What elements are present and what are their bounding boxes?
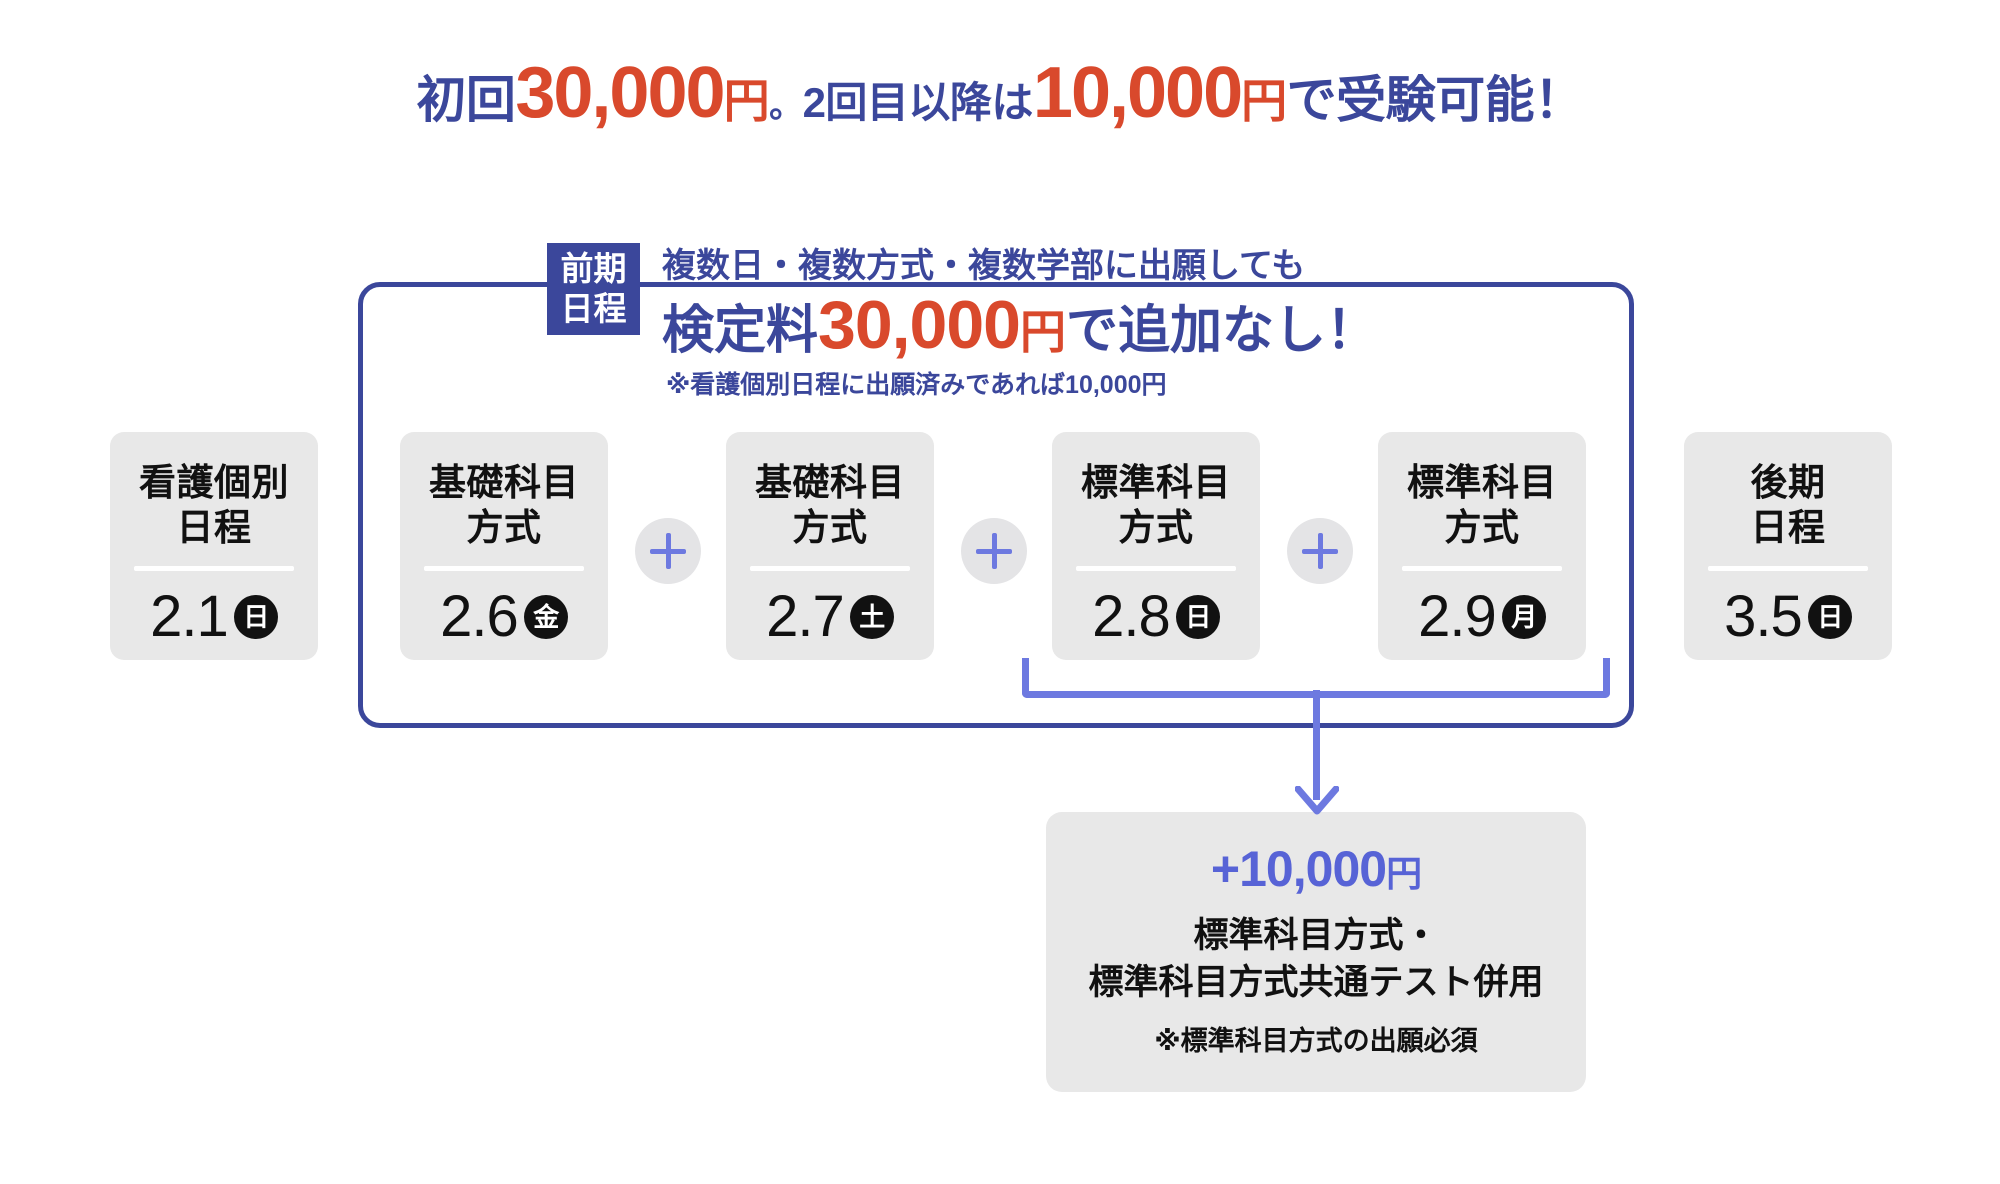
- plus-sign: +: [1211, 841, 1239, 897]
- notice-subtitle: 複数日・複数方式・複数学部に出願しても: [662, 238, 1378, 287]
- card-title-line1: 標準科目: [1081, 460, 1231, 505]
- notice-fee-amount: 30,000: [818, 287, 1020, 363]
- card-date: 2.7 土: [766, 583, 894, 650]
- day-of-week-badge: 金: [524, 595, 568, 639]
- card-title: 標準科目 方式: [1407, 460, 1557, 550]
- additional-fee-line2: 標準科目方式共通テスト併用: [1088, 959, 1543, 1006]
- card-divider: [1076, 566, 1236, 571]
- card-title-line1: 後期: [1751, 460, 1826, 505]
- card-title-line2: 方式: [1081, 505, 1231, 550]
- card-standard-subject-0208: 標準科目 方式 2.8 日: [1052, 432, 1260, 660]
- day-of-week-badge: 日: [1176, 595, 1220, 639]
- card-title-line2: 方式: [429, 505, 579, 550]
- card-title-line2: 日程: [139, 505, 289, 550]
- card-title: 標準科目 方式: [1081, 460, 1231, 550]
- card-nursing-individual: 看護個別 日程 2.1 日: [110, 432, 318, 660]
- notice-footnote: ※看護個別日程に出願済みであれば10,000円: [662, 365, 1378, 401]
- schedule-cards-row: 看護個別 日程 2.1 日 基礎科目 方式 2.6 金 基礎科目: [0, 432, 2000, 662]
- card-date: 2.9 月: [1418, 583, 1546, 650]
- card-date-number: 3.5: [1724, 583, 1802, 650]
- notice-main-line: 検定料30,000円で追加なし！: [662, 291, 1378, 359]
- term-badge-early: 前期 日程: [547, 243, 640, 335]
- card-title-line1: 標準科目: [1407, 460, 1557, 505]
- headline-yen-first: 円: [724, 75, 770, 127]
- notice-fee-yen: 円: [1020, 306, 1066, 358]
- notice-fee-label: 検定料: [662, 302, 818, 360]
- additional-fee-price: +10,000円: [1211, 844, 1421, 894]
- connector-arrow-stem: [1313, 690, 1320, 800]
- card-date-number: 2.7: [766, 583, 844, 650]
- card-title-line1: 基礎科目: [429, 460, 579, 505]
- card-title-line2: 日程: [1751, 505, 1826, 550]
- additional-fee-box: +10,000円 標準科目方式・ 標準科目方式共通テスト併用 ※標準科目方式の出…: [1046, 812, 1586, 1092]
- card-basic-subject-0207: 基礎科目 方式 2.7 土: [726, 432, 934, 660]
- card-date: 2.1 日: [150, 583, 278, 650]
- card-date-number: 2.8: [1092, 583, 1170, 650]
- fee-notice: 複数日・複数方式・複数学部に出願しても 検定料30,000円で追加なし！ ※看護…: [662, 238, 1378, 401]
- page-headline: 初回30,000円。2回目以降は10,000円で受験可能！: [0, 52, 2000, 134]
- card-date-number: 2.9: [1418, 583, 1496, 650]
- day-of-week-badge: 日: [234, 595, 278, 639]
- card-title-line2: 方式: [755, 505, 905, 550]
- card-date: 2.8 日: [1092, 583, 1220, 650]
- day-of-week-badge: 日: [1808, 595, 1852, 639]
- infographic-root: 初回30,000円。2回目以降は10,000円で受験可能！ 前期 日程 複数日・…: [0, 0, 2000, 1184]
- card-late-term: 後期 日程 3.5 日: [1684, 432, 1892, 660]
- term-badge-line2: 日程: [561, 289, 627, 329]
- day-of-week-badge: 月: [1502, 595, 1546, 639]
- day-of-week-badge: 土: [850, 595, 894, 639]
- plus-icon: [1287, 518, 1353, 584]
- notice-fee-tail: で追加なし！: [1066, 302, 1378, 360]
- connector-arrow-head: [1295, 786, 1339, 816]
- additional-fee-line1: 標準科目方式・: [1193, 912, 1438, 959]
- card-title: 後期 日程: [1751, 460, 1826, 550]
- plus-icon: [635, 518, 701, 584]
- card-title: 基礎科目 方式: [429, 460, 579, 550]
- card-title-line1: 看護個別: [139, 460, 289, 505]
- headline-suffix: で受験可能！: [1287, 72, 1584, 128]
- card-title-line1: 基礎科目: [755, 460, 905, 505]
- headline-price-first: 30,000: [515, 53, 723, 133]
- headline-yen-second: 円: [1241, 75, 1287, 127]
- headline-price-second: 10,000: [1033, 53, 1241, 133]
- card-basic-subject-0206: 基礎科目 方式 2.6 金: [400, 432, 608, 660]
- additional-fee-amount: 10,000: [1239, 841, 1386, 897]
- card-title: 看護個別 日程: [139, 460, 289, 550]
- card-date-number: 2.6: [440, 583, 518, 650]
- additional-fee-yen: 円: [1386, 853, 1421, 894]
- card-title: 基礎科目 方式: [755, 460, 905, 550]
- term-badge-line1: 前期: [561, 249, 627, 289]
- card-divider: [750, 566, 910, 571]
- headline-period: 。: [769, 87, 803, 125]
- card-standard-subject-0209: 標準科目 方式 2.9 月: [1378, 432, 1586, 660]
- headline-prefix: 初回: [416, 72, 515, 128]
- card-divider: [1708, 566, 1868, 571]
- card-divider: [424, 566, 584, 571]
- card-title-line2: 方式: [1407, 505, 1557, 550]
- card-divider: [1402, 566, 1562, 571]
- headline-middle: 2回目以降は: [803, 79, 1033, 126]
- plus-icon: [961, 518, 1027, 584]
- additional-fee-footnote: ※標準科目方式の出願必須: [1154, 1019, 1477, 1058]
- card-date: 2.6 金: [440, 583, 568, 650]
- card-date-number: 2.1: [150, 583, 228, 650]
- card-date: 3.5 日: [1724, 583, 1852, 650]
- card-divider: [134, 566, 294, 571]
